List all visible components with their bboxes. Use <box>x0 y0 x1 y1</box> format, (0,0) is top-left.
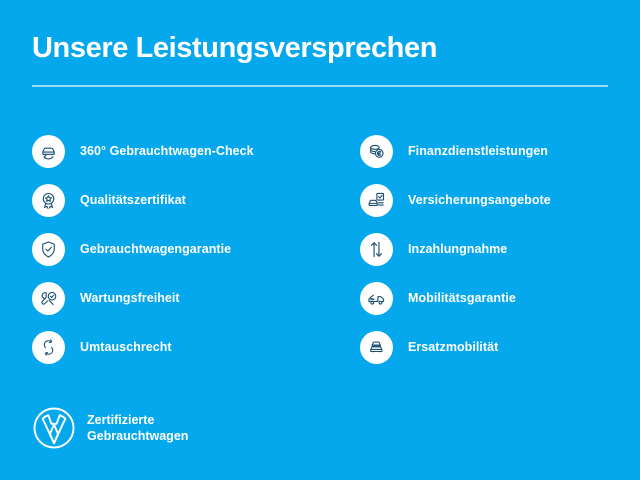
feature-label: Wartungsfreiheit <box>80 291 180 306</box>
vw-logo-icon <box>32 406 76 450</box>
feature-item-mobilitaetsgarantie[interactable]: Mobilitätsgarantie <box>360 274 630 323</box>
feature-column-right: Finanzdienstleistungen Versicherungsange… <box>360 127 630 372</box>
feature-item-gebrauchtwagen-check[interactable]: 360° Gebrauchtwagen-Check <box>32 127 332 176</box>
car-360-check-icon <box>32 135 65 168</box>
feature-label: Ersatzmobilität <box>408 340 498 355</box>
feature-item-finanzdienstleistungen[interactable]: Finanzdienstleistungen <box>360 127 630 176</box>
feature-label: 360° Gebrauchtwagen-Check <box>80 144 254 159</box>
feature-label: Finanzdienstleistungen <box>408 144 548 159</box>
tow-truck-icon <box>360 282 393 315</box>
feature-label: Qualitätszertifikat <box>80 193 186 208</box>
feature-item-versicherungsangebote[interactable]: Versicherungsangebote <box>360 176 630 225</box>
feature-label: Umtauschrecht <box>80 340 172 355</box>
car-document-check-icon <box>360 184 393 217</box>
feature-label: Gebrauchtwagengarantie <box>80 242 231 257</box>
coins-euro-icon <box>360 135 393 168</box>
promise-panel: Unsere Leistungsversprechen 360° Gebrauc… <box>0 0 640 480</box>
brand-text-line2: Gebrauchtwagen <box>87 429 188 443</box>
page-title: Unsere Leistungsversprechen <box>32 30 437 66</box>
two-cars-icon <box>360 331 393 364</box>
wrench-check-icon <box>32 282 65 315</box>
feature-label: Versicherungsangebote <box>408 193 551 208</box>
feature-item-gebrauchtwagengarantie[interactable]: Gebrauchtwagengarantie <box>32 225 332 274</box>
feature-label: Mobilitätsgarantie <box>408 291 516 306</box>
brand-text: Zertifizierte Gebrauchtwagen <box>87 412 188 444</box>
quality-rosette-icon <box>32 184 65 217</box>
feature-item-inzahlungnahme[interactable]: Inzahlungnahme <box>360 225 630 274</box>
exchange-arrows-icon <box>32 331 65 364</box>
feature-item-qualitaetszertifikat[interactable]: Qualitätszertifikat <box>32 176 332 225</box>
up-down-arrows-icon <box>360 233 393 266</box>
brand-text-line1: Zertifizierte <box>87 413 154 427</box>
shield-check-icon <box>32 233 65 266</box>
brand-lockup: Zertifizierte Gebrauchtwagen <box>32 406 188 450</box>
title-divider <box>32 85 608 87</box>
feature-label: Inzahlungnahme <box>408 242 507 257</box>
feature-item-ersatzmobilitaet[interactable]: Ersatzmobilität <box>360 323 630 372</box>
feature-item-umtauschrecht[interactable]: Umtauschrecht <box>32 323 332 372</box>
feature-column-left: 360° Gebrauchtwagen-Check Qualitätszerti… <box>32 127 332 372</box>
feature-item-wartungsfreiheit[interactable]: Wartungsfreiheit <box>32 274 332 323</box>
